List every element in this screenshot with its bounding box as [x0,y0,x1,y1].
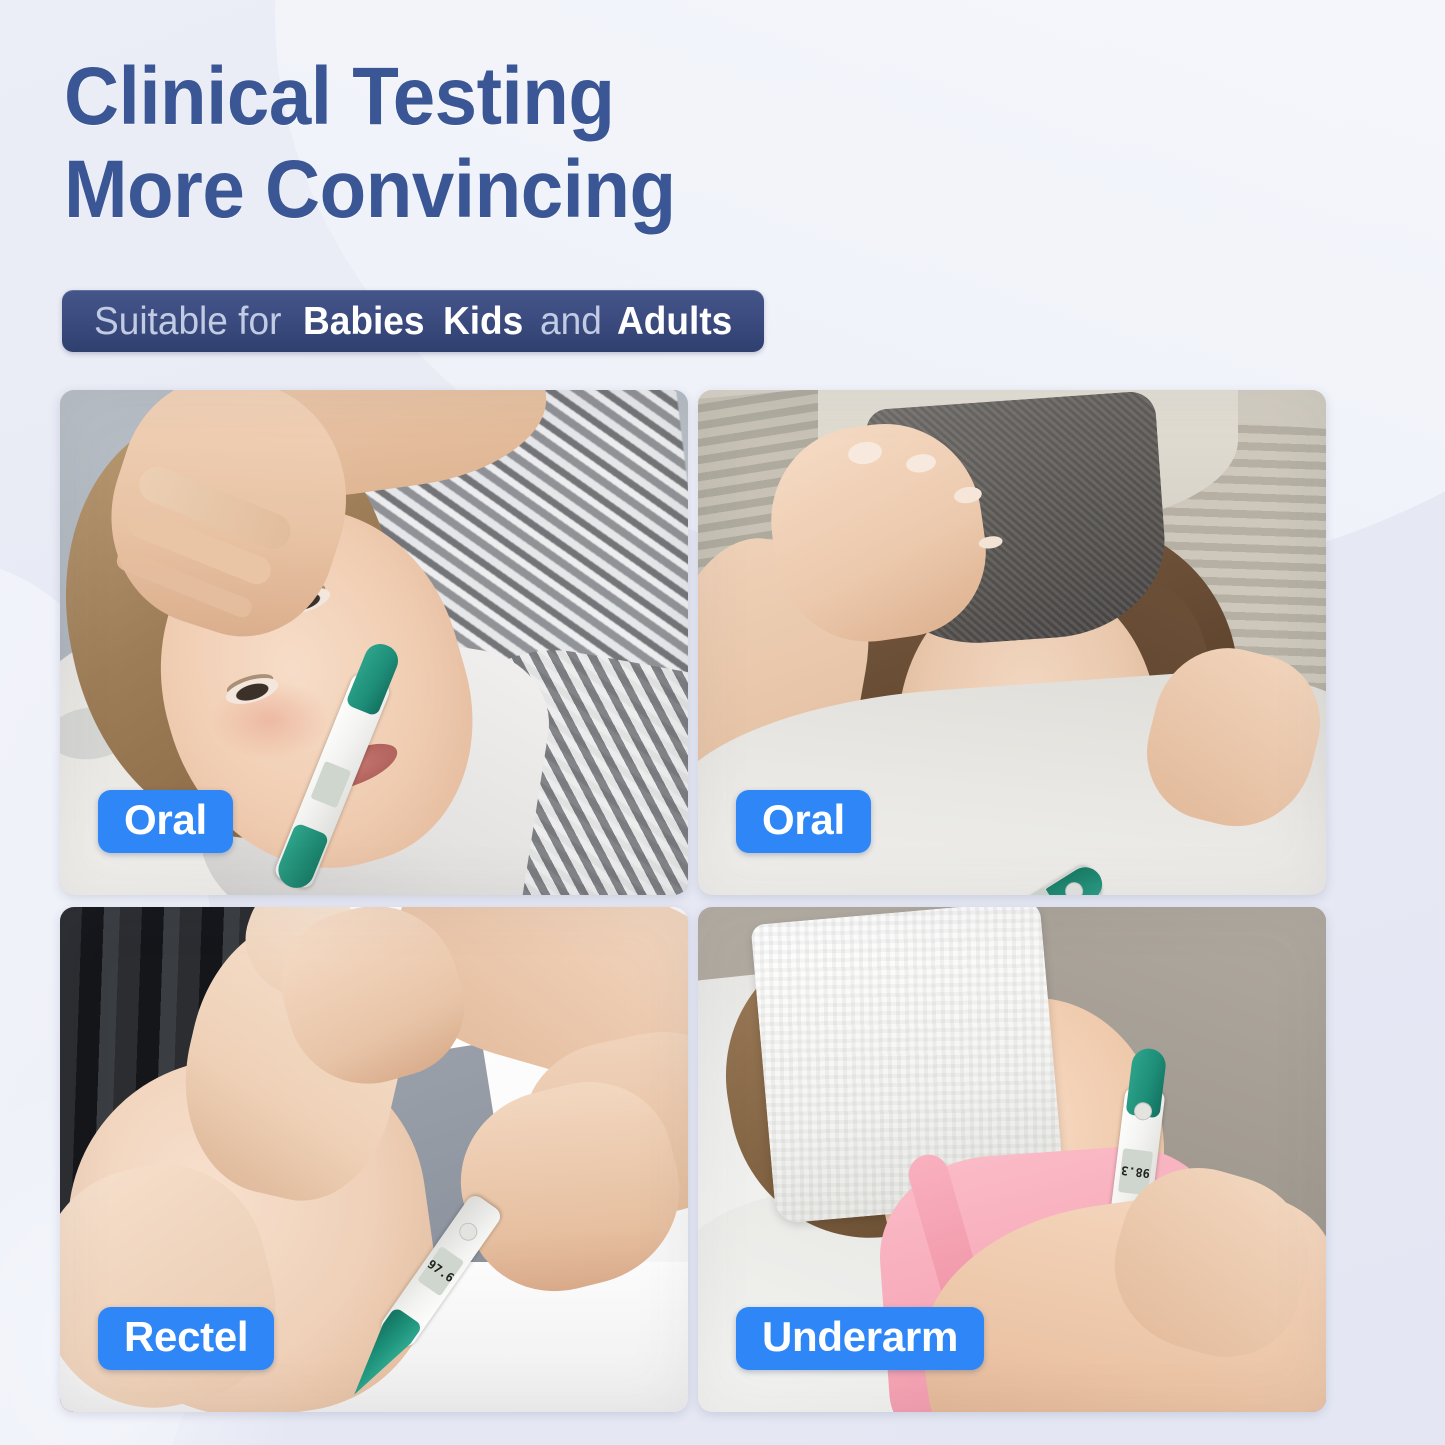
product-feature-poster: Clinical Testing More Convincing Suitabl… [0,0,1445,1445]
banner-prefix: Suitable for [94,302,281,341]
banner-audience-adults: Adults [617,302,732,341]
card-oral-adult[interactable]: 100.0 Oral [698,390,1326,895]
headline-line-1: Clinical Testing [64,50,901,143]
usage-label-oral-adult: Oral [736,790,871,853]
card-underarm-child[interactable]: 98.3 Underarm [698,907,1326,1412]
headline-line-2: More Convincing [64,143,901,236]
banner-audience-kids: Kids [443,302,523,341]
usage-label-rectal: Rectel [98,1307,274,1370]
card-rectal-baby[interactable]: 97.6 Rectel [60,907,688,1412]
page-title: Clinical Testing More Convincing [64,50,964,237]
banner-audience-babies: Babies [303,302,425,341]
usage-label-underarm: Underarm [736,1307,984,1370]
card-oral-child[interactable]: Oral [60,390,688,895]
usage-label-oral-child: Oral [98,790,233,853]
suitability-banner: Suitable for Babies Kids and Adults [62,290,764,352]
usage-photo-grid: Oral [60,390,1325,1425]
banner-conjunction: and [540,302,602,341]
